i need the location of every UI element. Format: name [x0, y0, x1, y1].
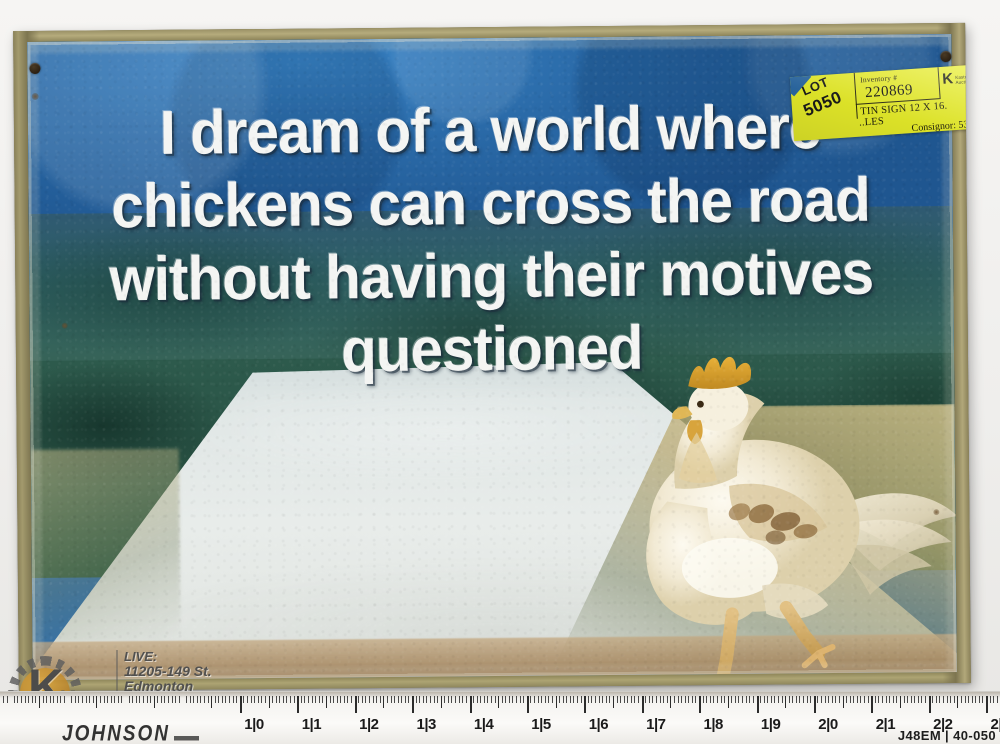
ruler-tick — [954, 696, 955, 703]
ruler-tick — [279, 696, 280, 703]
ruler-brand: JOHNSON▬▬ — [62, 722, 198, 744]
ruler-tick — [886, 696, 887, 703]
ruler-tick — [362, 696, 363, 703]
ruler-tick — [599, 696, 600, 703]
ruler-tick — [466, 696, 467, 703]
ruler-tick — [950, 696, 951, 703]
ruler-tick — [738, 696, 739, 703]
mounting-hole-top-right — [940, 51, 951, 62]
ruler-tick — [301, 696, 302, 703]
ruler-tick — [157, 696, 158, 703]
ruler-tick — [358, 696, 359, 703]
ruler-tick — [656, 696, 657, 703]
ruler-tick — [821, 696, 822, 703]
ruler-label: 1|6 — [589, 716, 608, 733]
ruler-tick — [43, 696, 44, 703]
ruler-tick — [304, 696, 305, 703]
ruler-tick — [46, 696, 47, 703]
ruler-tick — [351, 696, 352, 703]
ruler-tick — [613, 696, 614, 708]
ruler-tick-major — [642, 696, 644, 713]
ruler-tick — [552, 696, 553, 703]
measuring-ruler: 1|01|11|21|31|41|51|61|71|81|92|02|12|22… — [0, 691, 1000, 744]
ruler-tick — [53, 696, 54, 703]
ruler-tick — [627, 696, 628, 703]
auction-lot-label[interactable]: LOT 5050 Inventory # 220869 TIN SIGN 12 … — [790, 64, 971, 141]
ruler-tick — [860, 696, 861, 703]
ruler-tick — [218, 696, 219, 703]
ruler-tick — [484, 696, 485, 703]
ruler-tick — [161, 696, 162, 703]
ruler-tick — [997, 696, 998, 703]
ruler-tick — [724, 696, 725, 703]
rooster-icon — [578, 334, 957, 680]
ruler-tick — [843, 696, 844, 708]
ruler-tick — [100, 696, 101, 703]
ruler-tick — [154, 696, 155, 708]
ruler-tick — [678, 696, 679, 703]
ruler-tick — [78, 696, 79, 703]
ruler-tick — [204, 696, 205, 703]
ruler-label: 2|1 — [876, 716, 895, 733]
ruler-tick — [731, 696, 732, 703]
ruler-tick — [645, 696, 646, 703]
ruler-tick — [990, 696, 991, 703]
ruler-tick — [595, 696, 596, 703]
label-divider-vertical-2 — [938, 67, 941, 99]
ruler-tick — [269, 696, 270, 708]
ruler-tick — [333, 696, 334, 703]
ruler-tick — [774, 696, 775, 703]
ruler-label: 1|5 — [531, 716, 550, 733]
ruler-tick-major — [584, 696, 586, 713]
ruler-tick — [261, 696, 262, 703]
ruler-tick — [688, 696, 689, 703]
ruler-tick — [365, 696, 366, 703]
ruler-tick — [570, 696, 571, 703]
ruler-tick — [337, 696, 338, 703]
inventory-number: 220869 — [865, 82, 914, 102]
ruler-tick — [832, 696, 833, 703]
ruler-label: 1|9 — [761, 716, 780, 733]
ruler-tick — [530, 696, 531, 703]
ruler-tick — [495, 696, 496, 703]
ruler-tick — [315, 696, 316, 703]
ruler-tick — [864, 696, 865, 703]
ruler-tick — [516, 696, 517, 703]
ruler-tick — [111, 696, 112, 703]
ruler-tick — [107, 696, 108, 703]
ruler-tick-major — [757, 696, 759, 713]
ruler-tick — [993, 696, 994, 703]
ruler-tick — [286, 696, 287, 703]
ruler-tick — [609, 696, 610, 703]
ruler-tick — [480, 696, 481, 703]
ruler-tick — [538, 696, 539, 703]
ruler-tick — [25, 696, 26, 703]
ruler-tick — [434, 696, 435, 703]
ruler-tick — [602, 696, 603, 703]
ruler-tick — [312, 696, 313, 703]
ruler-tick — [703, 696, 704, 703]
ruler-tick — [487, 696, 488, 703]
ruler-tick — [383, 696, 384, 708]
ruler-tick — [789, 696, 790, 703]
ruler-tick — [556, 696, 557, 708]
ruler-label: 1|7 — [646, 716, 665, 733]
ruler-tick — [502, 696, 503, 703]
ruler-tick — [57, 696, 58, 703]
tin-sign: I dream of a world where chickens can cr… — [13, 23, 971, 691]
ruler-tick-major — [355, 696, 357, 713]
ruler-tick — [559, 696, 560, 703]
ruler-tick — [451, 696, 452, 703]
ruler-tick-major — [699, 696, 701, 713]
ruler-tick — [620, 696, 621, 703]
ruler-tick — [663, 696, 664, 703]
ruler-tick — [875, 696, 876, 703]
ruler-tick — [247, 696, 248, 703]
ruler-tick — [548, 696, 549, 703]
ruler-label: 1|8 — [703, 716, 722, 733]
ruler-tick — [121, 696, 122, 703]
ruler-tick — [742, 696, 743, 703]
ruler-tick — [200, 696, 201, 703]
ruler-tick — [3, 696, 4, 703]
ruler-tick — [982, 696, 983, 703]
ruler-tick — [979, 696, 980, 703]
ruler-tick — [947, 696, 948, 703]
ruler-tick — [326, 696, 327, 708]
ruler-tick — [828, 696, 829, 703]
ruler-tick — [545, 696, 546, 703]
ruler-tick — [39, 696, 40, 708]
ruler-tick — [164, 696, 165, 703]
ruler-tick — [401, 696, 402, 703]
ruler-tick-major — [527, 696, 529, 713]
ruler-tick — [577, 696, 578, 703]
ruler-tick — [294, 696, 295, 703]
ruler-tick-major — [297, 696, 299, 713]
ruler-tick — [448, 696, 449, 703]
ruler-tick — [807, 696, 808, 703]
ruler-tick — [591, 696, 592, 703]
ruler-tick-major — [929, 696, 931, 713]
ruler-tick — [93, 696, 94, 703]
ruler-tick — [534, 696, 535, 703]
ruler-tick — [760, 696, 761, 703]
ruler-tick — [975, 696, 976, 703]
ruler-tick — [398, 696, 399, 703]
ruler-tick — [921, 696, 922, 703]
ruler-tick — [767, 696, 768, 703]
ruler-tick — [721, 696, 722, 703]
ruler-tick — [839, 696, 840, 703]
ruler-tick — [904, 696, 905, 703]
ruler-tick — [82, 696, 83, 703]
ruler-tick — [746, 696, 747, 703]
ruler-tick — [430, 696, 431, 703]
ruler-label: 1|1 — [302, 716, 321, 733]
label-description-line-2: ..LES — [859, 116, 885, 129]
screenshot-root: I dream of a world where chickens can cr… — [0, 0, 1000, 744]
ruler-tick — [681, 696, 682, 703]
ruler-tick-major — [986, 696, 988, 713]
ruler-tick — [322, 696, 323, 703]
ruler-tick — [588, 696, 589, 703]
ruler-tick — [943, 696, 944, 703]
ruler-tick — [75, 696, 76, 703]
ruler-tick — [394, 696, 395, 703]
ruler-tick — [143, 696, 144, 703]
ruler-tick — [175, 696, 176, 703]
ruler-tick — [129, 696, 130, 703]
ruler-tick — [408, 696, 409, 703]
ruler-tick-major — [412, 696, 414, 713]
ruler-tick — [563, 696, 564, 703]
ruler-tick — [71, 696, 72, 703]
ruler-tick — [236, 696, 237, 703]
ruler-tick — [749, 696, 750, 703]
ruler-tick — [380, 696, 381, 703]
ruler-tick — [520, 696, 521, 703]
ruler-tick — [670, 696, 671, 708]
ruler-tick — [340, 696, 341, 703]
ruler-label: 1|3 — [416, 716, 435, 733]
ruler-tick — [14, 696, 15, 703]
ruler-tick — [799, 696, 800, 703]
ruler-tick — [376, 696, 377, 703]
ruler-tick — [437, 696, 438, 703]
ruler-tick — [713, 696, 714, 703]
ruler-tick — [735, 696, 736, 703]
ruler-tick — [753, 696, 754, 703]
ruler-tick — [233, 696, 234, 703]
ruler-tick — [28, 696, 29, 703]
ruler-tick — [792, 696, 793, 703]
ruler-tick-major — [814, 696, 816, 713]
ruler-tick — [473, 696, 474, 703]
ruler-tick — [939, 696, 940, 703]
ruler-tick — [136, 696, 137, 703]
ruler-tick — [685, 696, 686, 703]
ruler-tick — [208, 696, 209, 703]
ruler-brand-text: JOHNSON — [62, 722, 170, 744]
ruler-tick — [441, 696, 442, 708]
ruler-tick — [771, 696, 772, 703]
ruler-tick — [222, 696, 223, 703]
mounting-hole-top-left — [29, 63, 40, 74]
ruler-tick — [426, 696, 427, 703]
ruler-tick — [893, 696, 894, 703]
ruler-tick — [512, 696, 513, 703]
ruler-brand-mark: ▬▬ — [174, 727, 198, 744]
ruler-tick — [660, 696, 661, 703]
ruler-tick — [882, 696, 883, 703]
ruler-tick — [817, 696, 818, 703]
ruler-tick — [369, 696, 370, 703]
ruler-tick — [810, 696, 811, 703]
ruler-tick — [459, 696, 460, 703]
ruler-tick — [667, 696, 668, 703]
ruler-ticks: 1|01|11|21|31|41|51|61|71|81|92|02|12|22… — [0, 696, 1000, 718]
ruler-tick — [179, 696, 180, 703]
ruler-tick — [60, 696, 61, 703]
ruler-tick — [172, 696, 173, 703]
ruler-label: 1|2 — [359, 716, 378, 733]
ruler-tick — [190, 696, 191, 703]
ruler-tick — [957, 696, 958, 708]
ruler-tick — [258, 696, 259, 703]
ruler-tick-major — [470, 696, 472, 713]
ruler-tick — [32, 696, 33, 703]
ruler-tick — [932, 696, 933, 703]
ruler-model-code: J48EM | 40-050 — [898, 728, 996, 743]
ruler-tick — [251, 696, 252, 703]
ruler-tick — [118, 696, 119, 703]
ruler-tick — [649, 696, 650, 703]
ruler-tick — [114, 696, 115, 703]
ruler-tick — [491, 696, 492, 703]
ruler-tick — [150, 696, 151, 703]
ruler-tick — [444, 696, 445, 703]
ruler-tick — [907, 696, 908, 703]
ruler-tick — [7, 696, 8, 703]
ruler-tick — [132, 696, 133, 703]
ruler-tick — [581, 696, 582, 703]
ruler-tick — [785, 696, 786, 708]
ruler-tick — [505, 696, 506, 703]
ruler-tick — [638, 696, 639, 703]
ruler-tick — [782, 696, 783, 703]
ruler-tick — [147, 696, 148, 703]
ruler-tick — [283, 696, 284, 703]
ruler-tick — [878, 696, 879, 703]
ruler-tick — [290, 696, 291, 703]
ruler-tick — [911, 696, 912, 703]
ruler-tick — [624, 696, 625, 703]
ruler-tick — [387, 696, 388, 703]
ruler-tick — [416, 696, 417, 703]
ruler-tick — [330, 696, 331, 703]
ruler-tick — [96, 696, 97, 708]
ruler-tick — [796, 696, 797, 703]
ruler-tick — [968, 696, 969, 703]
ruler-tick — [850, 696, 851, 703]
ruler-label: 2|0 — [818, 716, 837, 733]
ruler-tick — [914, 696, 915, 703]
ruler-tick — [455, 696, 456, 703]
ruler-tick — [925, 696, 926, 703]
ruler-tick — [139, 696, 140, 703]
ruler-tick — [706, 696, 707, 703]
ruler-tick — [197, 696, 198, 703]
ruler-tick — [86, 696, 87, 703]
ruler-tick — [728, 696, 729, 708]
ruler-label: 1|0 — [244, 716, 263, 733]
ruler-tick — [265, 696, 266, 703]
ruler-tick — [193, 696, 194, 703]
ruler-tick — [373, 696, 374, 703]
ruler-tick — [89, 696, 90, 703]
rooster-illustration — [578, 334, 957, 680]
ruler-tick — [211, 696, 212, 708]
ruler-tick — [344, 696, 345, 703]
ruler-tick — [606, 696, 607, 703]
ruler-tick — [523, 696, 524, 703]
ruler-tick — [229, 696, 230, 703]
ruler-tick — [634, 696, 635, 703]
ruler-tick — [846, 696, 847, 703]
ruler-tick — [477, 696, 478, 703]
ruler-tick — [21, 696, 22, 703]
ruler-tick — [64, 696, 65, 703]
ruler-tick — [692, 696, 693, 703]
ruler-tick — [825, 696, 826, 703]
ruler-tick — [509, 696, 510, 703]
ruler-tick — [498, 696, 499, 708]
ruler-tick — [695, 696, 696, 703]
ruler-tick — [419, 696, 420, 703]
ruler-tick — [17, 696, 18, 703]
ruler-tick — [566, 696, 567, 703]
ruler-tick — [168, 696, 169, 703]
ruler-tick — [186, 696, 187, 703]
ruler-tick — [35, 696, 36, 703]
ruler-tick — [965, 696, 966, 703]
ruler-tick — [717, 696, 718, 703]
ruler-tick — [541, 696, 542, 703]
ruler-tick — [918, 696, 919, 703]
ruler-tick — [868, 696, 869, 703]
ruler-tick — [347, 696, 348, 703]
ruler-tick — [617, 696, 618, 703]
ruler-tick — [104, 696, 105, 703]
ruler-tick — [652, 696, 653, 703]
ruler-tick — [631, 696, 632, 703]
ruler-tick — [710, 696, 711, 703]
ruler-tick — [573, 696, 574, 703]
ruler-tick — [319, 696, 320, 703]
ruler-tick — [857, 696, 858, 703]
ruler-tick — [423, 696, 424, 703]
ruler-tick — [835, 696, 836, 703]
ruler-tick — [803, 696, 804, 703]
ruler-tick — [50, 696, 51, 703]
ruler-tick — [391, 696, 392, 703]
ruler-tick — [462, 696, 463, 703]
ruler-tick — [764, 696, 765, 703]
ruler-tick — [405, 696, 406, 703]
ruler-tick — [972, 696, 973, 703]
ruler-tick — [225, 696, 226, 703]
ruler-tick — [896, 696, 897, 703]
ruler-tick — [778, 696, 779, 703]
ruler-tick — [900, 696, 901, 708]
ruler-label: 1|4 — [474, 716, 493, 733]
ruler-tick — [243, 696, 244, 703]
ruler-tick — [853, 696, 854, 703]
ruler-tick — [308, 696, 309, 703]
ruler-tick — [961, 696, 962, 703]
ruler-tick — [936, 696, 937, 703]
ruler-tick — [276, 696, 277, 703]
ruler-tick — [254, 696, 255, 703]
ruler-tick-major — [240, 696, 242, 713]
ruler-tick — [272, 696, 273, 703]
ruler-tick — [215, 696, 216, 703]
left-grass-shoulder — [31, 449, 180, 642]
